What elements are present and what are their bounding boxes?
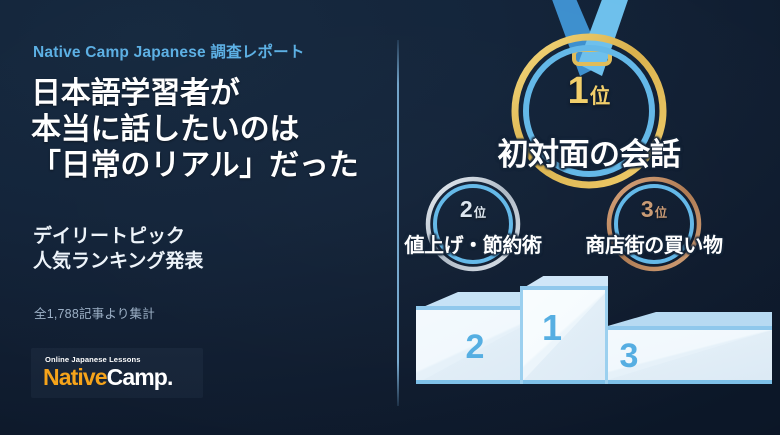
podium-number-1: 1 xyxy=(517,307,587,349)
gold-medal-icon: 1位 初対面の会話 xyxy=(504,26,674,196)
rank-label-3: 商店街の買い物 xyxy=(504,229,780,258)
subtitle: デイリートピック 人気ランキング発表 xyxy=(33,224,373,274)
infographic-canvas: Native Camp Japanese 調査レポート 日本語学習者が 本当に話… xyxy=(0,0,780,435)
subtitle-line-2: 人気ランキング発表 xyxy=(33,249,373,274)
podium-number-3: 3 xyxy=(594,337,664,376)
headline-line-3: 「日常のリアル」だった xyxy=(31,148,391,184)
rank-number-2: 2位 xyxy=(421,196,525,223)
rank-number-3: 3位 xyxy=(602,196,706,223)
logo-tagline: Online Japanese Lessons xyxy=(45,355,141,364)
logo-camp-text: Camp. xyxy=(107,364,173,390)
podium-number-2: 2 xyxy=(440,328,510,367)
source-caption: 全1,788記事より集計 xyxy=(34,303,155,322)
rank-label-1: 初対面の会話 xyxy=(439,129,739,174)
subtitle-line-1: デイリートピック xyxy=(33,224,373,249)
headline-line-2: 本当に話したいのは xyxy=(31,112,391,148)
silver-medal-icon: 2位 値上げ・節約術 xyxy=(421,172,525,276)
report-eyebrow: Native Camp Japanese 調査レポート xyxy=(33,40,305,62)
right-graphic-panel: 1位 初対面の会話 2位 値上げ・節約術 xyxy=(398,0,780,435)
page-title: 日本語学習者が 本当に話したいのは 「日常のリアル」だった xyxy=(31,76,391,184)
rank-number-1: 1位 xyxy=(504,70,674,113)
left-text-panel: Native Camp Japanese 調査レポート 日本語学習者が 本当に話… xyxy=(0,0,398,435)
headline-line-1: 日本語学習者が xyxy=(31,76,391,112)
bronze-medal-icon: 3位 商店街の買い物 xyxy=(602,172,706,276)
nativecamp-logo: Online Japanese Lessons NativeCamp. xyxy=(31,348,203,398)
logo-wordmark: NativeCamp. xyxy=(43,364,172,390)
logo-native-text: Native xyxy=(43,364,107,390)
